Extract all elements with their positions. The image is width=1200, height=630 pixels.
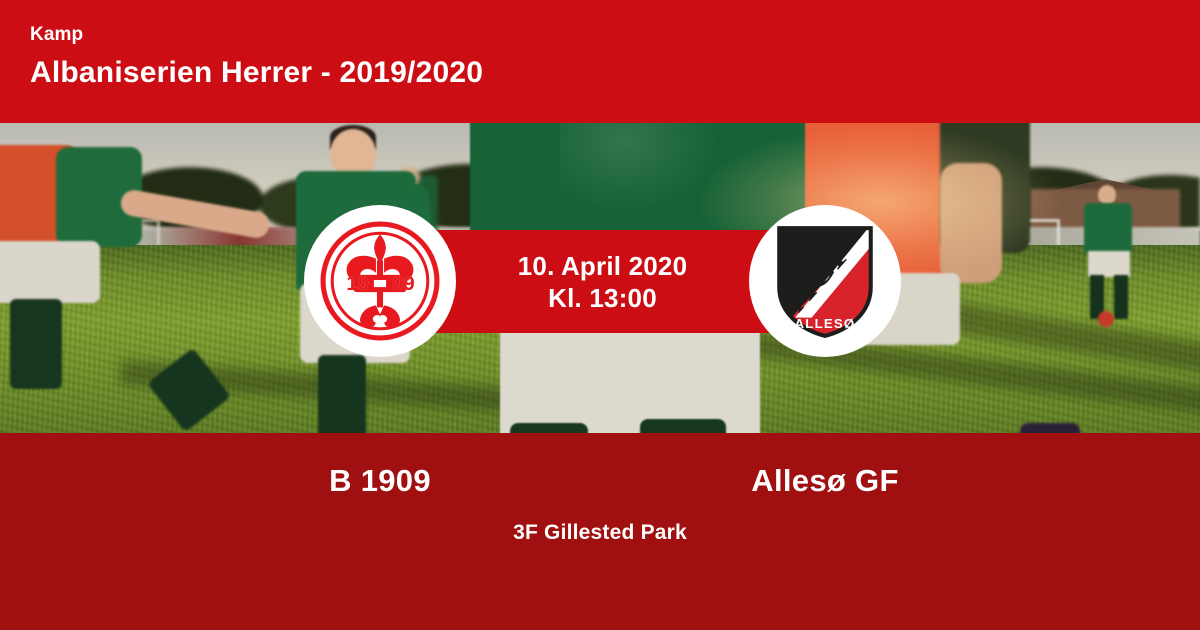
photo-player2-leg	[318, 355, 366, 433]
photo-player3-leg-left	[510, 423, 588, 433]
match-time: Kl. 13:00	[548, 282, 657, 314]
header-eyebrow: Kamp	[30, 24, 1200, 46]
svg-text:09: 09	[392, 273, 415, 295]
away-team-crest[interactable]: AGF ALLESØ	[749, 205, 901, 357]
home-team-crest[interactable]: 19 09 19 09	[304, 205, 456, 357]
away-team-name: Allesø GF	[645, 463, 1005, 499]
photo-player1-leg	[10, 299, 62, 389]
photo-player5-ball	[1098, 311, 1114, 327]
photo-player4-leg	[1020, 423, 1080, 433]
page-title: Albaniserien Herrer - 2019/2020	[30, 52, 1200, 94]
photo-player5-shorts	[1088, 251, 1130, 277]
agf-alleso-shield-crest-icon: AGF ALLESØ	[769, 220, 881, 342]
home-team-name: B 1909	[200, 463, 560, 499]
teams-and-venue-band: B 1909 Allesø GF 3F Gillested Park DANSK…	[0, 433, 1200, 630]
b1909-fleur-de-lis-crest-icon: 19 09 19 09	[319, 220, 441, 342]
match-date: 10. April 2020	[518, 250, 688, 282]
photo-player1-shorts	[0, 241, 100, 303]
photo-player5-shirt	[1084, 203, 1132, 255]
svg-text:19: 19	[346, 273, 369, 295]
svg-text:ALLESØ: ALLESØ	[795, 316, 856, 331]
photo-player5-head	[1098, 185, 1116, 205]
venue-name: 3F Gillested Park	[0, 521, 1200, 545]
match-poster: Kamp Albaniserien Herrer - 2019/2020	[0, 0, 1200, 630]
photo-player3-leg-right	[640, 419, 726, 433]
photo-player5-leg-right	[1114, 275, 1128, 319]
photo-player3-highlight	[560, 123, 720, 213]
poster-header: Kamp Albaniserien Herrer - 2019/2020	[0, 0, 1200, 123]
